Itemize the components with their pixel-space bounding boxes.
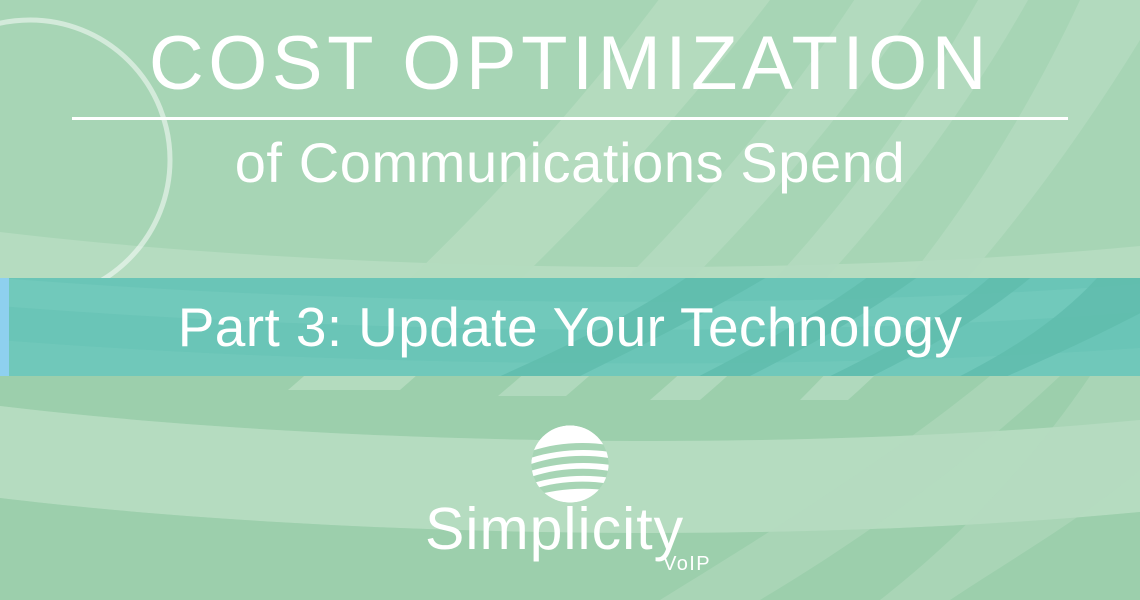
title-block: COST OPTIMIZATION of Communications Spen…	[0, 24, 1140, 194]
title-divider	[72, 117, 1068, 120]
part-label-wrap: Part 3: Update Your Technology	[0, 278, 1140, 376]
part-label: Part 3: Update Your Technology	[178, 300, 963, 355]
banner-graphic: COST OPTIMIZATION of Communications Spen…	[0, 0, 1140, 600]
part-banner-band: Part 3: Update Your Technology	[0, 278, 1140, 376]
page-title: COST OPTIMIZATION	[0, 24, 1140, 103]
brand-tagline: VoIP	[663, 554, 711, 574]
wordmark-wrap: Simplicity VoIP	[425, 500, 715, 578]
page-subtitle: of Communications Spend	[0, 132, 1140, 194]
brand-logo: Simplicity VoIP	[0, 418, 1140, 578]
brand-wordmark: Simplicity	[425, 500, 715, 559]
